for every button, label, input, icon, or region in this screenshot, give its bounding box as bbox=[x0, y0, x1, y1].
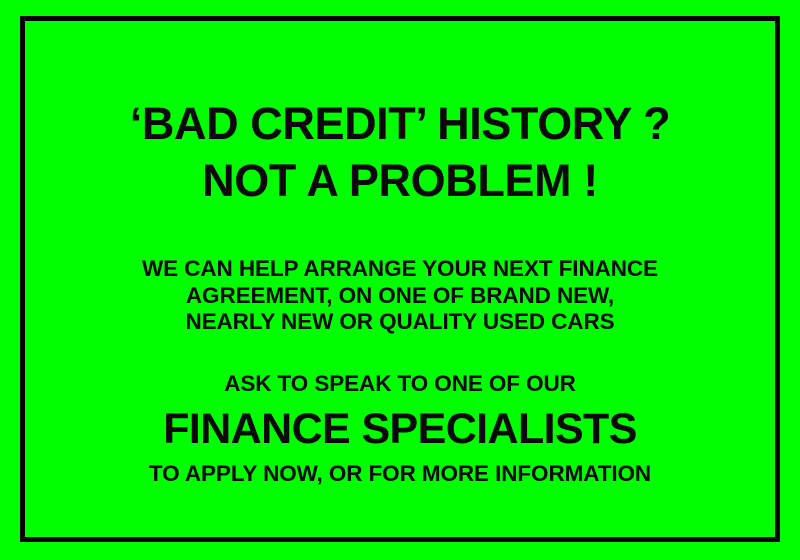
cta-footer-line: TO APPLY NOW, OR FOR MORE INFORMATION bbox=[51, 460, 749, 487]
body-line-3: NEARLY NEW OR QUALITY USED CARS bbox=[51, 309, 749, 336]
advert-poster: ‘BAD CREDIT’ HISTORY ? NOT A PROBLEM ! W… bbox=[0, 0, 800, 560]
body-line-2: AGREEMENT, ON ONE OF BRAND NEW, bbox=[51, 283, 749, 310]
call-to-action-block: ASK TO SPEAK TO ONE OF OUR FINANCE SPECI… bbox=[51, 370, 749, 487]
headline-not-a-problem: NOT A PROBLEM ! bbox=[51, 154, 749, 209]
headline-bad-credit-history: ‘BAD CREDIT’ HISTORY ? bbox=[51, 97, 749, 152]
body-line-1: WE CAN HELP ARRANGE YOUR NEXT FINANCE bbox=[51, 256, 749, 283]
poster-content: ‘BAD CREDIT’ HISTORY ? NOT A PROBLEM ! W… bbox=[25, 21, 775, 537]
body-paragraph: WE CAN HELP ARRANGE YOUR NEXT FINANCE AG… bbox=[51, 256, 749, 336]
cta-lead-line: ASK TO SPEAK TO ONE OF OUR bbox=[51, 370, 749, 397]
poster-border-frame: ‘BAD CREDIT’ HISTORY ? NOT A PROBLEM ! W… bbox=[20, 16, 780, 542]
cta-finance-specialists: FINANCE SPECIALISTS bbox=[51, 405, 749, 453]
